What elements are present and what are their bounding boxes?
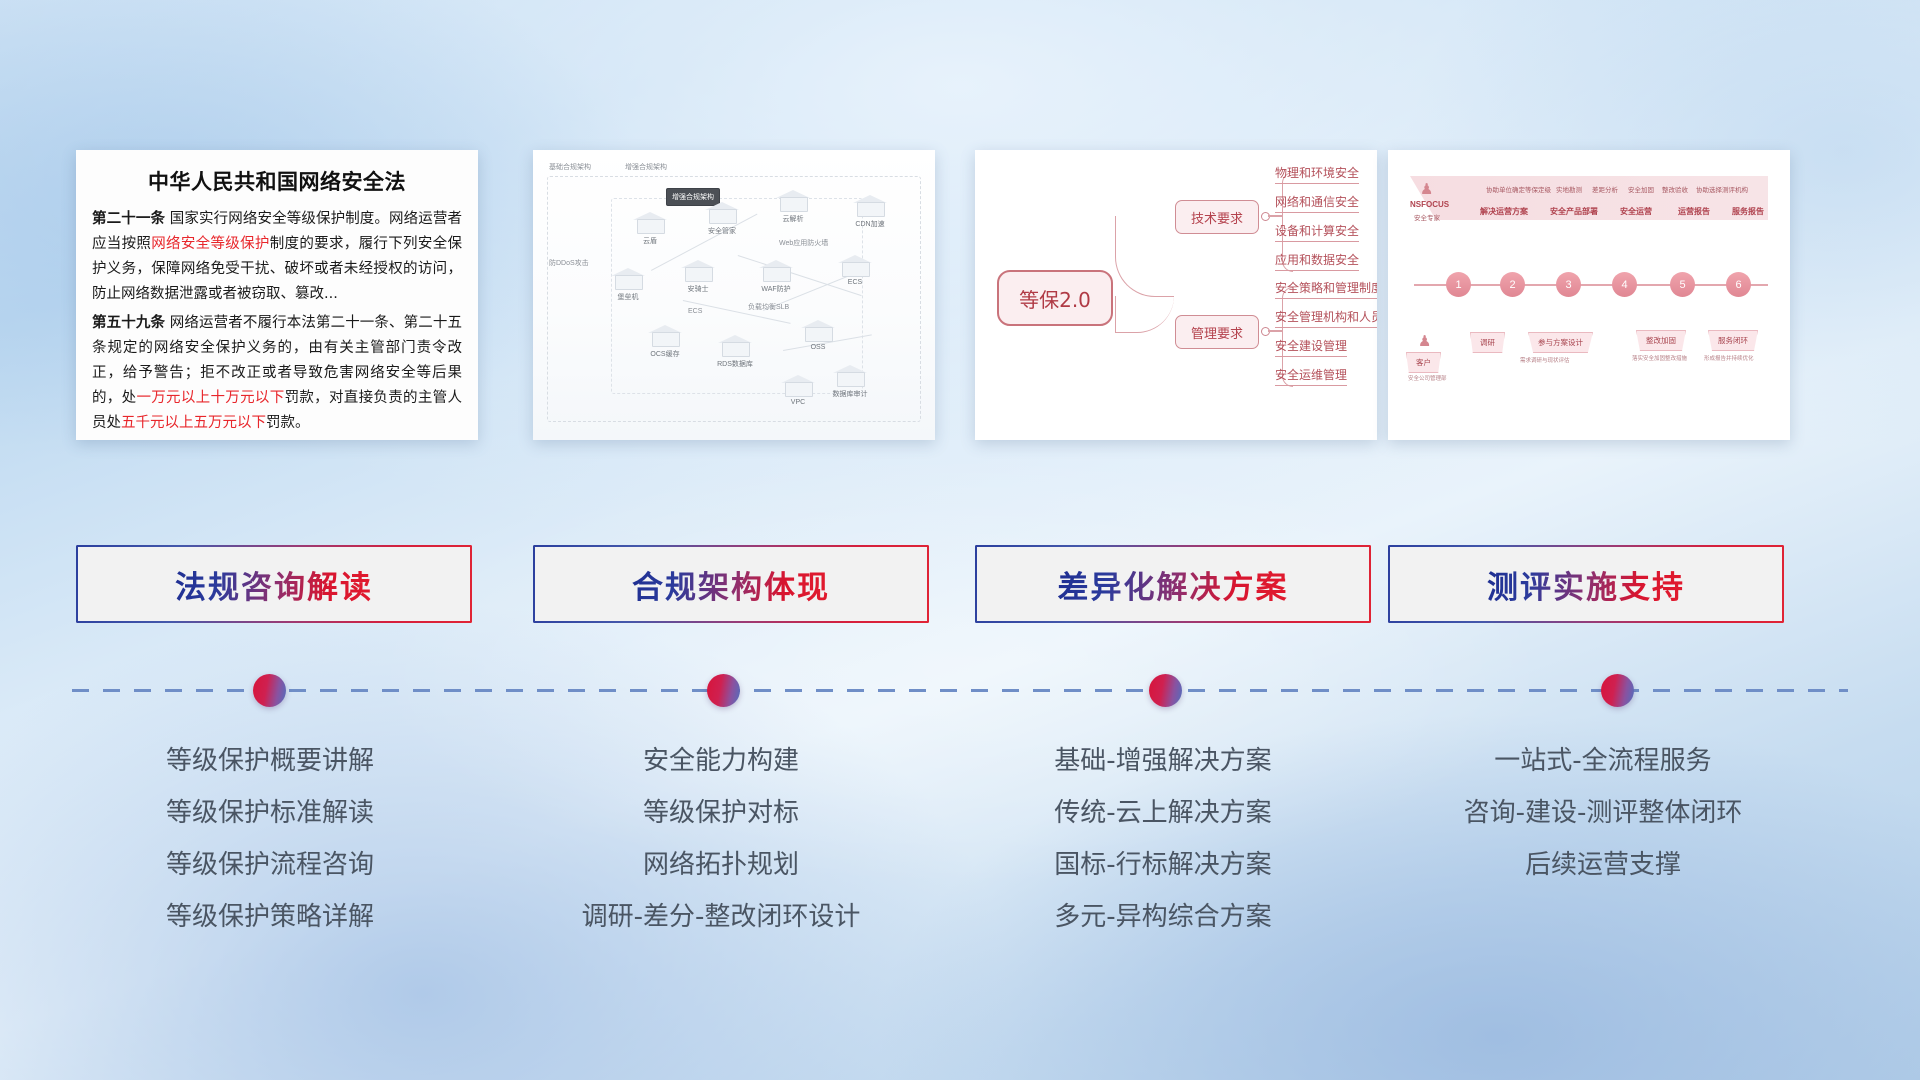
diagram-node-label: 堡垒机 [618,292,639,302]
diagram-node-label: OCS缓存 [650,349,679,359]
diagram-caption-left: 基础合规架构 [549,162,591,172]
service-step-number: 4 [1612,272,1637,297]
diagram-node-label: CDN加速 [855,219,884,229]
mindmap-leaf: 网络和通信安全 [1275,193,1359,213]
mindmap-leaf: 安全管理机构和人员 [1275,308,1377,328]
card-compliance-architecture[interactable]: 基础合规架构 增强合规架构 增强合规架构 云盾 安全管家 云解析 [533,150,935,440]
list-item: 一站式-全流程服务 [1393,735,1813,787]
service-milestone: 服务报告 [1732,206,1764,217]
service-header-item: 整改验收 [1662,184,1688,194]
diagram-node-label: 云解析 [783,214,804,224]
list-item: 等级保护对标 [511,787,931,839]
brand-subtitle: 安全专家 [1414,212,1440,222]
mindmap-branch-technical: 技术要求 [1175,200,1259,234]
heading-label: 测评实施支持 [1487,562,1685,607]
diagram-node-label: VPC [791,399,805,406]
detail-column-regulation-consulting: 等级保护概要讲解 等级保护标准解读 等级保护流程咨询 等级保护策略详解 [60,735,480,943]
heading-label: 法规咨询解读 [175,562,373,607]
list-item: 调研-差分-整改闭环设计 [511,891,931,943]
law-article-59: 第五十九条 网络运营者不履行本法第二十一条、第二十五条规定的网络安全保护义务的，… [92,311,462,436]
mindmap-connector [1268,330,1282,332]
service-step-number: 2 [1500,272,1525,297]
card-service-process[interactable]: ♟ NSFOCUS 安全专家 协助单位确定等保定级 实地勘测 差距分析 安全加固… [1388,150,1790,440]
detail-column-differentiated-solution: 基础-增强解决方案 传统-云上解决方案 国标-行标解决方案 多元-异构综合方案 [953,735,1373,943]
diagram-node: 数据库审计 [833,365,867,387]
article-59-label: 第五十九条 [92,315,165,331]
list-item: 咨询-建设-测评整体闭环 [1393,787,1813,839]
list-item: 网络拓扑规划 [511,839,931,891]
heading-row: 法规咨询解读 合规架构体现 差异化解决方案 测评实施支持 [0,545,1920,625]
diagram-label-ecs: ECS [688,308,702,315]
service-bottom-badge: 客户 [1406,352,1441,373]
service-milestone: 解决运营方案 [1480,206,1528,217]
heading-box-regulation-consulting[interactable]: 法规咨询解读 [76,545,472,623]
timeline-dashed-line [72,689,1848,692]
mindmap-connector [1268,215,1282,217]
heading-box-differentiated-solution[interactable]: 差异化解决方案 [975,545,1371,623]
heading-box-compliance-architecture[interactable]: 合规架构体现 [533,545,929,623]
service-bottom-badge: 服务闭环 [1708,330,1758,351]
list-item: 等级保护概要讲解 [60,735,480,787]
service-bottom-badge: 调研 [1470,332,1505,353]
mindmap-leaf: 安全运维管理 [1275,366,1347,386]
diagram-node: 堡垒机 [611,268,645,290]
detail-list-row: 等级保护概要讲解 等级保护标准解读 等级保护流程咨询 等级保护策略详解 安全能力… [0,735,1920,975]
mindmap-leaf: 安全建设管理 [1275,337,1347,357]
list-item: 等级保护标准解读 [60,787,480,839]
article-59-highlight-b: 五千元以上五万元以下 [121,415,266,431]
service-step-number: 6 [1726,272,1751,297]
diagram-node-label: OSS [811,344,826,351]
list-item: 国标-行标解决方案 [953,839,1373,891]
diagram-node: WAF防护 [759,260,793,282]
detail-column-evaluation-support: 一站式-全流程服务 咨询-建设-测评整体闭环 后续运营支撑 [1393,735,1813,891]
diagram-node-label: RDS数据库 [717,359,753,369]
service-bottom-badge: 整改加固 [1636,330,1686,351]
service-bottom-sub: 形成报告并持续优化 [1704,354,1754,362]
article-59-text-c: 罚款。 [266,415,310,431]
card-cybersecurity-law[interactable]: 中华人民共和国网络安全法 第二十一条 国家实行网络安全等级保护制度。网络运营者应… [76,150,478,440]
diagram-node-label: 数据库审计 [833,389,868,399]
diagram-node: OCS缓存 [648,325,682,347]
service-bottom-sub: 需求调研与现状评估 [1520,356,1570,364]
diagram-node: 云盾 [633,212,667,234]
people-icon: ♟ [1418,332,1431,350]
mindmap: 等保2.0 技术要求 管理要求 物理和环境安全 网络和通信安全 设备和计算安全 … [975,150,1377,440]
heading-label: 差异化解决方案 [1058,562,1289,607]
diagram-node-label: 安全管家 [708,226,736,236]
service-step-number: 1 [1446,272,1471,297]
list-item: 等级保护流程咨询 [60,839,480,891]
diagram-node-label: 云盾 [643,236,657,246]
heading-box-evaluation-support[interactable]: 测评实施支持 [1388,545,1784,623]
service-header-item: 安全加固 [1628,184,1654,194]
mindmap-leaf: 应用和数据安全 [1275,251,1359,271]
architecture-diagram: 基础合规架构 增强合规架构 增强合规架构 云盾 安全管家 云解析 [533,150,935,440]
law-title: 中华人民共和国网络安全法 [92,166,462,196]
mindmap-leaf: 安全策略和管理制度 [1275,279,1377,299]
service-milestone: 安全产品部署 [1550,206,1598,217]
diagram-label-waf: Web应用防火墙 [779,238,828,248]
timeline-dot-1[interactable] [253,674,286,707]
list-item: 后续运营支撑 [1393,839,1813,891]
diagram-label-ddos: 防DDoS攻击 [549,258,589,268]
list-item: 多元-异构综合方案 [953,891,1373,943]
timeline [0,660,1920,720]
article-59-highlight-a: 一万元以上十万元以下 [136,390,284,406]
law-document: 中华人民共和国网络安全法 第二十一条 国家实行网络安全等级保护制度。网络运营者应… [76,150,478,440]
diagram-node-label: 安骑士 [688,284,709,294]
brand-name: NSFOCUS [1410,200,1449,209]
service-bottom-sub: 落实安全加固整改措施 [1632,354,1687,362]
service-header-item: 实地勘测 [1556,184,1582,194]
image-card-row: 中华人民共和国网络安全法 第二十一条 国家实行网络安全等级保护制度。网络运营者应… [0,150,1920,440]
diagram-node: ECS [838,255,872,277]
service-header-item: 协助单位确定等保定级 [1486,184,1551,194]
diagram-node: 安全管家 [705,202,739,224]
heading-label: 合规架构体现 [632,562,830,607]
mindmap-leaf: 设备和计算安全 [1275,222,1359,242]
timeline-dot-2[interactable] [707,674,740,707]
service-step-number: 3 [1556,272,1581,297]
person-icon: ♟ [1420,180,1433,198]
service-process-graphic: ♟ NSFOCUS 安全专家 协助单位确定等保定级 实地勘测 差距分析 安全加固… [1388,150,1790,440]
mindmap-branch-management: 管理要求 [1175,315,1259,349]
mindmap-connector [1115,216,1174,297]
service-milestone: 安全运营 [1620,206,1652,217]
diagram-label-slb: 负载均衡SLB [748,302,789,312]
diagram-node: RDS数据库 [718,335,752,357]
service-header-item: 差距分析 [1592,184,1618,194]
diagram-node: 云解析 [776,190,810,212]
service-header-item: 协助选择测评机构 [1696,184,1748,194]
timeline-dot-3[interactable] [1149,674,1182,707]
detail-column-compliance-architecture: 安全能力构建 等级保护对标 网络拓扑规划 调研-差分-整改闭环设计 [511,735,931,943]
diagram-caption-right: 增强合规架构 [625,162,667,172]
service-bottom-sub: 安全公司管理部 [1408,374,1447,382]
list-item: 安全能力构建 [511,735,931,787]
mindmap-root-node: 等保2.0 [997,270,1113,326]
timeline-dot-4[interactable] [1601,674,1634,707]
list-item: 基础-增强解决方案 [953,735,1373,787]
list-item: 等级保护策略详解 [60,891,480,943]
diagram-node: OSS [801,320,835,342]
list-item: 传统-云上解决方案 [953,787,1373,839]
service-bottom-badge: 参与方案设计 [1528,332,1593,353]
diagram-node: 安骑士 [681,260,715,282]
diagram-node: CDN加速 [853,195,887,217]
mindmap-connector [1115,296,1174,333]
article-21-label: 第二十一条 [92,211,165,227]
article-21-highlight: 网络安全等级保护 [151,236,270,252]
card-mindmap-dengbao[interactable]: 等保2.0 技术要求 管理要求 物理和环境安全 网络和通信安全 设备和计算安全 … [975,150,1377,440]
diagram-node-label: WAF防护 [761,284,790,294]
service-step-number: 5 [1670,272,1695,297]
diagram-node-label: ECS [848,279,862,286]
mindmap-leaf: 物理和环境安全 [1275,164,1359,184]
service-milestone: 运营报告 [1678,206,1710,217]
law-article-21: 第二十一条 国家实行网络安全等级保护制度。网络运营者应当按照网络安全等级保护制度… [92,207,462,307]
diagram-node: VPC [781,375,815,397]
